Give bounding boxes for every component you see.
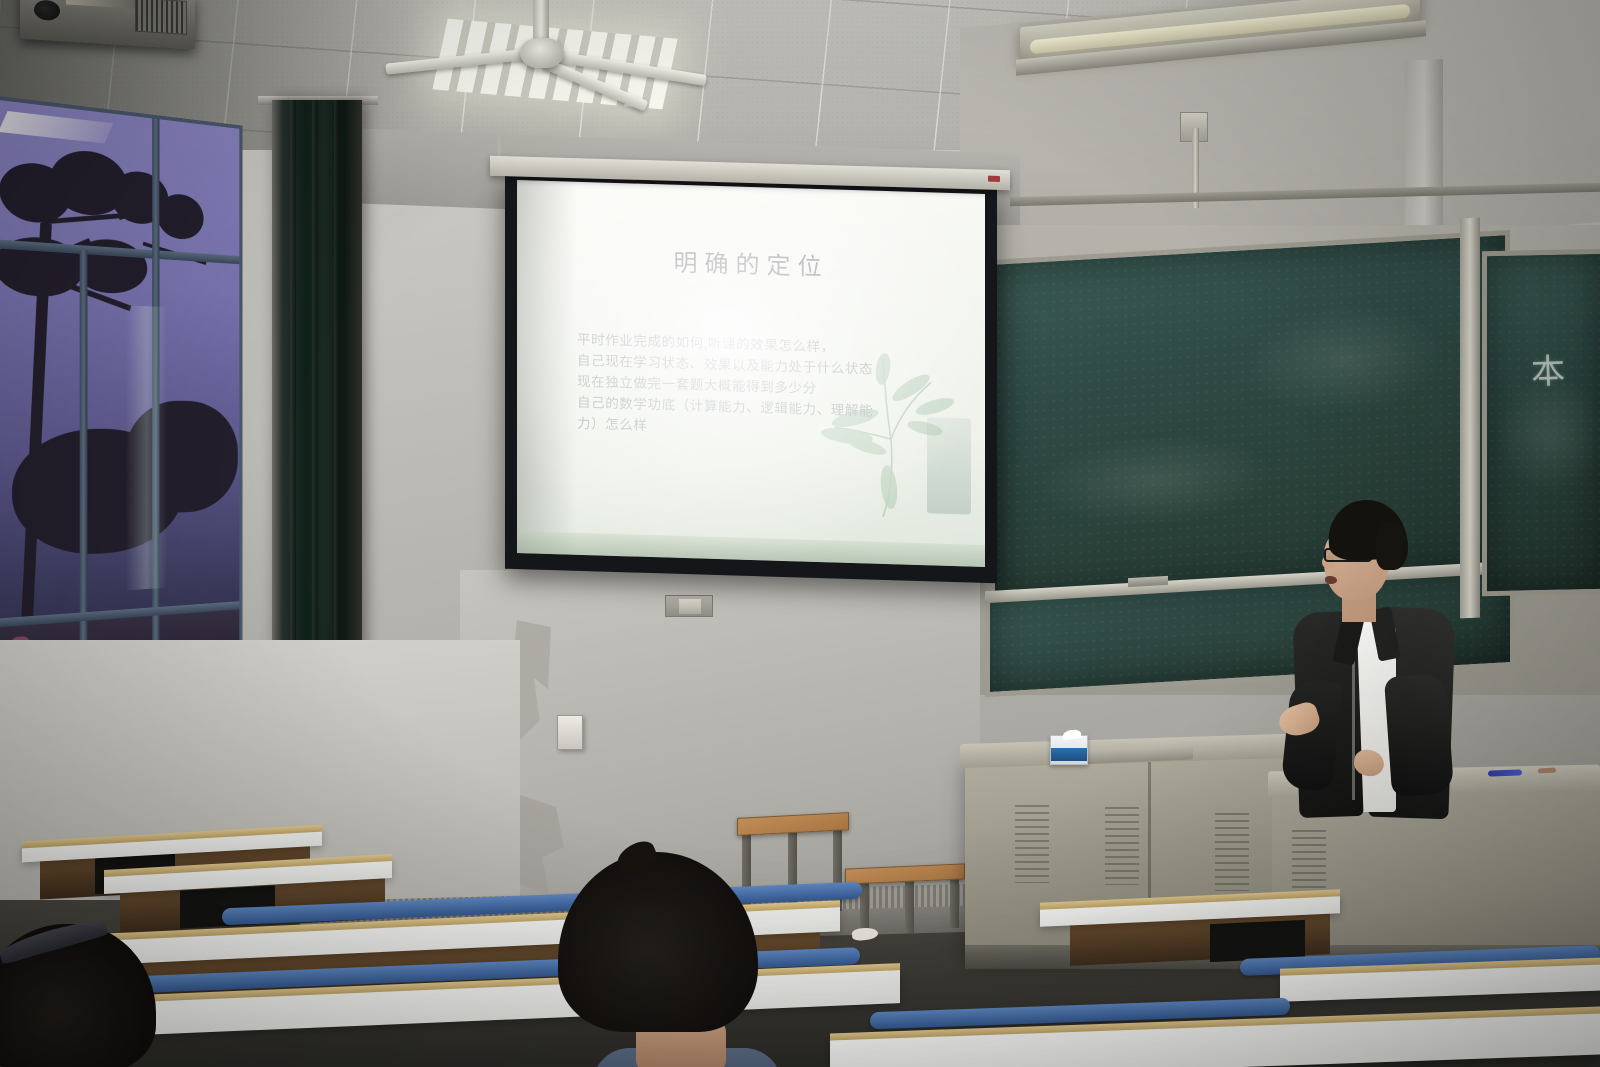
tissue-box-label (1051, 748, 1087, 761)
presenter (1280, 500, 1460, 830)
slide-bottom-band (517, 531, 985, 567)
student-foreground-left (0, 924, 166, 1067)
right-arm (1384, 673, 1454, 797)
tissue-box[interactable] (1050, 735, 1088, 765)
stool-leg (905, 875, 914, 933)
hair-side (1376, 522, 1408, 570)
blackboard-divider (1460, 218, 1480, 619)
mouth (1325, 576, 1337, 584)
screen-housing-indicator (988, 176, 1000, 182)
cabinet-vent-louver (1215, 813, 1249, 891)
window-reflection (126, 305, 167, 590)
projector-lens (34, 0, 60, 21)
projector-body-strip (66, 0, 146, 9)
stool-leg (950, 872, 959, 928)
wall-mount-bracket (665, 595, 713, 617)
slide-title: 明确的定位 (517, 238, 985, 287)
student-hair (558, 852, 758, 1032)
slide-surface: 明确的定位 平时作业完成的如何,听课的效果怎么样， 自己现在学习状态、效果以及能… (517, 180, 985, 567)
bamboo-branch-icon (813, 345, 963, 524)
desk-shadow-gap (1210, 920, 1305, 962)
student-foreground-center (558, 852, 768, 1067)
projector-vent (135, 0, 187, 35)
ceiling-fan-hub (520, 38, 564, 68)
screen-edge-shadow (517, 180, 577, 555)
blackboard-right-panel (1482, 249, 1600, 597)
cabinet-vent-louver (1105, 807, 1139, 885)
projection-screen: 明确的定位 平时作业完成的如何,听课的效果怎么样， 自己现在学习状态、效果以及能… (505, 171, 997, 584)
chalk-writing: 本 (1530, 343, 1566, 393)
marker-pen[interactable] (1538, 768, 1556, 774)
wall-electrical-outlet[interactable] (557, 715, 583, 750)
ceiling-fan-rod (533, 0, 549, 42)
cabinet-vent-louver (1015, 805, 1049, 883)
blue-pen[interactable] (1488, 769, 1522, 776)
classroom-scene: 本 (0, 0, 1600, 1067)
